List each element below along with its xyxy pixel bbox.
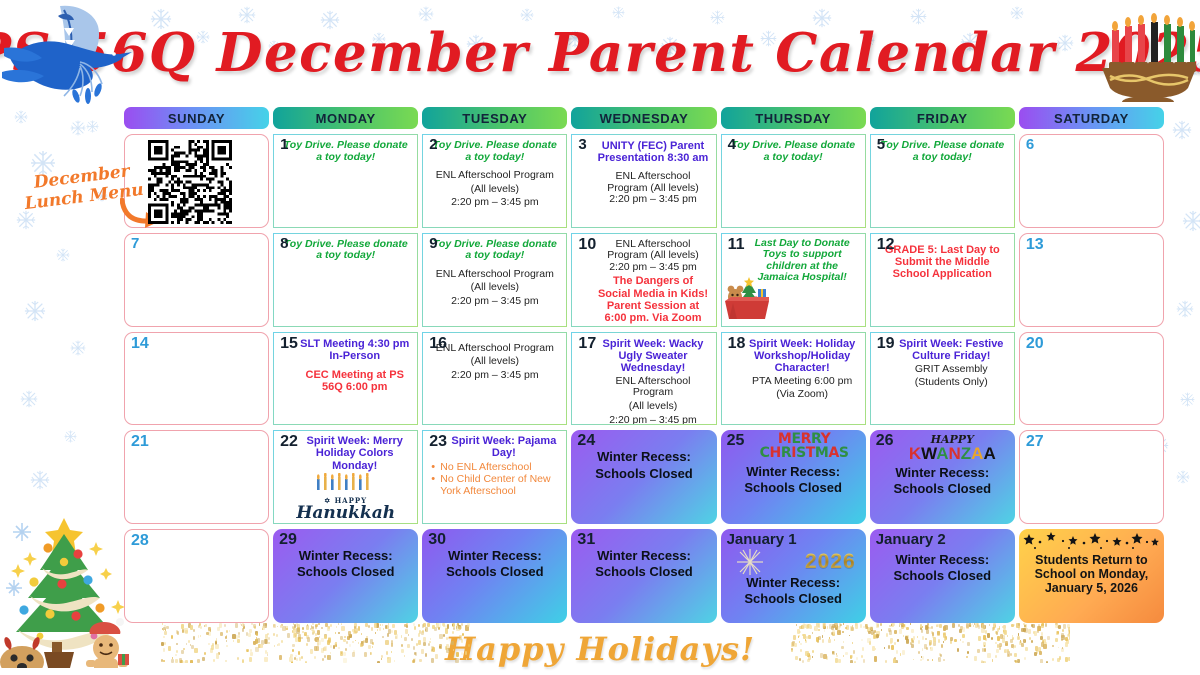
lunch-menu-qr-code[interactable] bbox=[148, 140, 232, 224]
snowflake-icon bbox=[56, 248, 70, 262]
event-text: Winter Recess: bbox=[876, 466, 1009, 480]
confetti-dot bbox=[330, 652, 331, 654]
confetti-dot bbox=[962, 641, 963, 643]
confetti-dot bbox=[229, 630, 230, 632]
calendar-cell-14[interactable]: 14 bbox=[124, 332, 269, 426]
day-number: 19 bbox=[877, 335, 895, 353]
confetti-dot bbox=[1065, 637, 1068, 642]
day-number: 9 bbox=[429, 236, 437, 253]
calendar-cell-6[interactable]: 6 bbox=[1019, 134, 1164, 228]
confetti-dot bbox=[314, 656, 316, 659]
calendar-cell-31[interactable]: 31Winter Recess:Schools Closed bbox=[571, 529, 716, 623]
calendar-cell-25[interactable]: 25MERRYCHRISTMASWinter Recess:Schools Cl… bbox=[721, 430, 866, 524]
calendar-cell-16[interactable]: 16ENL Afterschool Program(All levels)2:2… bbox=[422, 332, 567, 426]
event-text: Winter Recess: bbox=[577, 549, 710, 563]
confetti-dot bbox=[795, 656, 798, 661]
confetti-dot bbox=[1057, 631, 1059, 634]
confetti-dot bbox=[832, 651, 834, 654]
confetti-dot bbox=[346, 641, 348, 644]
calendar-cell-8[interactable]: 8Toy Drive. Please donate a toy today! bbox=[273, 233, 418, 327]
calendar-cell-13[interactable]: 13 bbox=[1019, 233, 1164, 327]
event-text: Schools Closed bbox=[577, 467, 710, 481]
confetti-dot bbox=[447, 624, 450, 628]
calendar-cell-2[interactable]: 2Toy Drive. Please donate a toy today!EN… bbox=[422, 134, 567, 228]
calendar-cell-1[interactable]: 1Toy Drive. Please donate a toy today! bbox=[273, 134, 418, 228]
confetti-dot bbox=[243, 624, 245, 628]
confetti-dot bbox=[993, 623, 997, 628]
confetti-dot bbox=[193, 636, 195, 640]
confetti-dot bbox=[1017, 659, 1019, 661]
confetti-dot bbox=[238, 635, 240, 638]
cell-body: Spirit Week: Wacky Ugly Sweater Wednesda… bbox=[576, 338, 711, 426]
confetti-dot bbox=[361, 641, 365, 646]
event-text: ENL Afterschool Program bbox=[596, 376, 709, 399]
confetti-dot bbox=[287, 626, 289, 628]
event-text: GRADE 5: Last Day to Submit the Middle S… bbox=[877, 244, 1008, 280]
day-number: 17 bbox=[578, 335, 596, 353]
confetti-dot bbox=[176, 650, 178, 653]
confetti-dot bbox=[419, 659, 422, 663]
calendar-grid: SUNDAYMONDAYTUESDAYWEDNESDAYTHURSDAYFRID… bbox=[124, 107, 1164, 623]
confetti-dot bbox=[891, 624, 892, 626]
confetti-dot bbox=[247, 650, 249, 652]
calendar-cell-7[interactable]: 7 bbox=[124, 233, 269, 327]
confetti-dot bbox=[996, 649, 998, 653]
confetti-dot bbox=[232, 634, 236, 639]
confetti-dot bbox=[268, 642, 269, 644]
list-item: No Child Center of New York Afterschool bbox=[431, 474, 562, 498]
confetti-dot bbox=[1058, 625, 1061, 629]
confetti-dot bbox=[297, 624, 301, 629]
day-number: 3 bbox=[578, 137, 586, 154]
snowflake-icon bbox=[1180, 392, 1195, 407]
confetti-dot bbox=[225, 636, 227, 639]
confetti-dot bbox=[802, 634, 804, 637]
confetti-dot bbox=[1058, 647, 1059, 649]
cell-body: GRADE 5: Last Day to Submit the Middle S… bbox=[875, 239, 1010, 280]
new-year-art: 2026 bbox=[725, 549, 862, 575]
confetti-dot bbox=[1035, 646, 1038, 651]
calendar-cell-11[interactable]: 11Last Day to Donate Toys to support chi… bbox=[721, 233, 866, 327]
confetti-dot bbox=[467, 623, 470, 627]
confetti-dot bbox=[341, 626, 345, 631]
event-text: Winter Recess: bbox=[577, 450, 710, 464]
confetti-dot bbox=[327, 655, 329, 659]
confetti-dot bbox=[319, 636, 320, 638]
confetti-dot bbox=[205, 624, 207, 627]
confetti-dot bbox=[860, 624, 863, 628]
confetti-dot bbox=[401, 649, 404, 653]
confetti-dot bbox=[950, 637, 953, 641]
confetti-dot bbox=[224, 624, 227, 628]
confetti-dot bbox=[1010, 653, 1012, 656]
cell-body: Winter Recess:Schools Closed bbox=[575, 549, 712, 580]
confetti-dot bbox=[273, 624, 276, 629]
confetti-dot bbox=[941, 644, 944, 648]
confetti-dot bbox=[225, 660, 227, 662]
confetti-dot bbox=[1014, 645, 1016, 648]
calendar-cell-27[interactable]: 27 bbox=[1019, 430, 1164, 524]
confetti-dot bbox=[897, 639, 899, 642]
calendar-cell-24[interactable]: 24Winter Recess:Schools Closed bbox=[571, 430, 716, 524]
confetti-dot bbox=[296, 658, 298, 661]
confetti-dot bbox=[1061, 635, 1065, 640]
confetti-dot bbox=[312, 623, 314, 625]
confetti-dot bbox=[406, 623, 408, 626]
confetti-dot bbox=[1057, 658, 1060, 662]
confetti-dot bbox=[453, 649, 454, 651]
confetti-dot bbox=[179, 658, 182, 663]
calendar-cell-5[interactable]: 5Toy Drive. Please donate a toy today! bbox=[870, 134, 1015, 228]
confetti-dot bbox=[185, 660, 188, 663]
confetti-dot bbox=[163, 648, 166, 652]
confetti-dot bbox=[917, 636, 918, 638]
confetti-dot bbox=[799, 658, 801, 661]
confetti-dot bbox=[894, 642, 896, 645]
confetti-dot bbox=[452, 631, 454, 634]
confetti-dot bbox=[391, 643, 394, 647]
confetti-dot bbox=[265, 639, 268, 644]
confetti-dot bbox=[171, 635, 174, 639]
confetti-dot bbox=[338, 632, 340, 635]
confetti-dot bbox=[932, 659, 934, 661]
confetti-dot bbox=[861, 639, 863, 642]
confetti-dot bbox=[381, 658, 382, 660]
event-text: 2:20 pm – 3:45 pm bbox=[596, 415, 709, 426]
confetti-dot bbox=[327, 626, 330, 631]
confetti-dot bbox=[843, 623, 844, 625]
confetti-dot bbox=[854, 661, 856, 663]
event-text: Spirit Week: Merry Holiday Colors Monday… bbox=[298, 435, 411, 471]
day-number: 26 bbox=[876, 432, 894, 450]
event-text: SLT Meeting 4:30 pm In-Person bbox=[298, 338, 411, 362]
confetti-dot bbox=[799, 631, 801, 633]
calendar-cell-12[interactable]: 12GRADE 5: Last Day to Submit the Middle… bbox=[870, 233, 1015, 327]
confetti-dot bbox=[166, 626, 168, 629]
confetti-dot bbox=[453, 655, 454, 657]
confetti-dot bbox=[1052, 645, 1053, 647]
confetti-dot bbox=[395, 634, 398, 639]
confetti-dot bbox=[278, 643, 280, 646]
confetti-dot bbox=[348, 631, 351, 636]
cell-body: Winter Recess:Schools Closed bbox=[874, 466, 1011, 497]
confetti-dot bbox=[926, 647, 928, 650]
event-text: Spirit Week: Holiday Workshop/Holiday Ch… bbox=[746, 338, 859, 374]
confetti-dot bbox=[802, 624, 805, 629]
snowflake-icon bbox=[30, 470, 50, 490]
confetti-dot bbox=[257, 638, 261, 643]
event-text: ENL Afterschool Program (All levels) 2:2… bbox=[596, 239, 709, 274]
confetti-dot bbox=[891, 645, 895, 650]
confetti-dot bbox=[292, 644, 294, 647]
event-text: Toy Drive. Please donate a toy today! bbox=[280, 140, 411, 163]
snowflake-icon bbox=[1176, 470, 1190, 484]
event-text: Schools Closed bbox=[279, 565, 412, 579]
confetti-dot bbox=[1021, 643, 1024, 648]
confetti-dot bbox=[428, 643, 430, 645]
confetti-dot bbox=[338, 623, 339, 625]
calendar-cell-3[interactable]: 3UNITY (FEC) Parent Presentation 8:30 am… bbox=[571, 134, 716, 228]
confetti-dot bbox=[162, 628, 163, 630]
confetti-dot bbox=[1013, 648, 1014, 650]
calendar-cell-january-2[interactable]: January 2Winter Recess:Schools Closed bbox=[870, 529, 1015, 623]
event-text: Schools Closed bbox=[428, 565, 561, 579]
confetti-dot bbox=[851, 655, 853, 658]
cell-body: Winter Recess:Schools Closed bbox=[725, 576, 862, 607]
confetti-dot bbox=[423, 637, 426, 642]
confetti-dot bbox=[794, 643, 797, 647]
cell-body: ENL Afterschool Program (All levels) 2:2… bbox=[576, 239, 711, 324]
confetti-dot bbox=[368, 625, 370, 628]
confetti-dot bbox=[435, 654, 438, 659]
confetti-dot bbox=[925, 638, 926, 640]
confetti-dot bbox=[922, 626, 923, 628]
confetti-dot bbox=[358, 626, 361, 630]
day-header-friday: FRIDAY bbox=[870, 107, 1015, 129]
confetti-dot bbox=[267, 652, 269, 654]
confetti-dot bbox=[443, 634, 445, 637]
day-number: 16 bbox=[429, 335, 447, 353]
confetti-dot bbox=[211, 645, 214, 650]
confetti-dot bbox=[216, 653, 220, 658]
confetti-dot bbox=[456, 652, 459, 657]
confetti-dot bbox=[903, 635, 905, 637]
event-text: 2:20 pm – 3:45 pm bbox=[429, 370, 560, 382]
cell-body: Toy Drive. Please donate a toy today! bbox=[875, 140, 1010, 163]
confetti-dot bbox=[408, 634, 409, 636]
confetti-dot bbox=[1024, 657, 1026, 660]
confetti-dot bbox=[306, 643, 308, 646]
confetti-dot bbox=[371, 627, 373, 631]
confetti-dot bbox=[1069, 630, 1070, 634]
confetti-dot bbox=[834, 639, 835, 641]
confetti-dot bbox=[861, 655, 863, 658]
confetti-dot bbox=[317, 640, 321, 645]
confetti-dot bbox=[799, 641, 800, 643]
confetti-dot bbox=[1037, 626, 1040, 631]
hanukkah-happy: ✡ HAPPY bbox=[324, 496, 367, 505]
snowflake-icon bbox=[1176, 300, 1194, 318]
confetti-dot bbox=[853, 650, 856, 654]
confetti-dot bbox=[943, 633, 945, 635]
confetti-dot bbox=[213, 659, 215, 662]
event-text: (All levels) bbox=[429, 184, 560, 196]
event-text: Students Return to School on Monday, Jan… bbox=[1025, 554, 1158, 595]
calendar-cell-30[interactable]: 30Winter Recess:Schools Closed bbox=[422, 529, 567, 623]
confetti-dot bbox=[370, 639, 373, 644]
confetti-dot bbox=[938, 657, 941, 662]
confetti-dot bbox=[460, 626, 462, 629]
confetti-dot bbox=[823, 623, 826, 628]
calendar-cell-26[interactable]: 26HAPPYKWANZAAWinter Recess:Schools Clos… bbox=[870, 430, 1015, 524]
calendar-cell-29[interactable]: 29Winter Recess:Schools Closed bbox=[273, 529, 418, 623]
confetti-dot bbox=[466, 658, 468, 660]
confetti-dot bbox=[422, 630, 424, 634]
confetti-dot bbox=[855, 623, 858, 628]
confetti-dot bbox=[874, 656, 877, 661]
confetti-dot bbox=[365, 638, 368, 643]
confetti-dot bbox=[1028, 629, 1031, 633]
day-number: 6 bbox=[1026, 137, 1034, 154]
calendar-cell-23[interactable]: 23Spirit Week: Pajama Day!No ENL Aftersc… bbox=[422, 430, 567, 524]
confetti-dot bbox=[381, 655, 383, 658]
calendar-cell-18[interactable]: 18Spirit Week: Holiday Workshop/Holiday … bbox=[721, 332, 866, 426]
day-label: January 1 bbox=[727, 531, 797, 548]
confetti-dot bbox=[379, 627, 381, 630]
confetti-dot bbox=[374, 623, 378, 628]
confetti-dot bbox=[884, 647, 885, 649]
confetti-dot bbox=[465, 651, 467, 655]
day-number: 23 bbox=[429, 433, 447, 451]
cell-body: Students Return to School on Monday, Jan… bbox=[1023, 554, 1160, 595]
confetti-dot bbox=[987, 653, 991, 658]
event-text: Schools Closed bbox=[876, 482, 1009, 496]
confetti-dot bbox=[800, 643, 801, 645]
day-number: 31 bbox=[577, 531, 595, 549]
day-number: 1 bbox=[280, 137, 288, 154]
confetti-dot bbox=[190, 660, 193, 664]
confetti-dot bbox=[981, 660, 983, 663]
confetti-dot bbox=[886, 633, 889, 637]
confetti-dot bbox=[974, 623, 975, 625]
confetti-dot bbox=[462, 633, 464, 637]
confetti-dot bbox=[1011, 624, 1013, 628]
confetti-dot bbox=[939, 624, 942, 628]
day-number: 13 bbox=[1026, 236, 1044, 254]
confetti-dot bbox=[1014, 660, 1015, 662]
confetti-dot bbox=[248, 633, 251, 637]
snowflake-icon bbox=[1172, 120, 1192, 140]
confetti-dot bbox=[210, 629, 212, 632]
confetti-dot bbox=[242, 628, 244, 632]
confetti-dot bbox=[927, 659, 928, 661]
confetti-dot bbox=[164, 631, 167, 635]
confetti-dot bbox=[324, 646, 327, 651]
confetti-dot bbox=[423, 642, 426, 646]
confetti-dot bbox=[974, 656, 977, 661]
event-text: Spirit Week: Festive Culture Friday! bbox=[895, 338, 1008, 362]
confetti-dot bbox=[967, 642, 970, 647]
confetti-dot bbox=[453, 627, 455, 630]
confetti-dot bbox=[874, 635, 876, 638]
confetti-dot bbox=[343, 652, 346, 657]
snowflake-icon bbox=[64, 430, 77, 443]
happy-holidays-text: Happy Holidays! bbox=[445, 630, 755, 668]
confetti-dot bbox=[828, 639, 831, 643]
calendar-cell-17[interactable]: 17Spirit Week: Wacky Ugly Sweater Wednes… bbox=[571, 332, 716, 426]
day-number: 8 bbox=[280, 236, 288, 253]
confetti-dot bbox=[913, 659, 914, 661]
confetti-dot bbox=[315, 633, 317, 636]
confetti-dot bbox=[868, 631, 870, 634]
confetti-dot bbox=[302, 627, 304, 630]
hanukkah-text: ✡ HAPPYHanukkah bbox=[278, 491, 413, 522]
confetti-dot bbox=[315, 625, 317, 628]
confetti-dot bbox=[233, 640, 235, 642]
confetti-dot bbox=[282, 626, 286, 631]
calendar-cell-10[interactable]: 10ENL Afterschool Program (All levels) 2… bbox=[571, 233, 716, 327]
confetti-dot bbox=[287, 633, 290, 638]
confetti-dot bbox=[292, 649, 294, 652]
confetti-dot bbox=[301, 656, 303, 659]
confetti-dot bbox=[235, 623, 238, 628]
calendar-cell-return-notice[interactable]: Students Return to School on Monday, Jan… bbox=[1019, 529, 1164, 623]
confetti-dot bbox=[411, 638, 413, 640]
confetti-dot bbox=[413, 646, 415, 649]
day-number: 25 bbox=[727, 432, 745, 450]
confetti-dot bbox=[918, 640, 921, 644]
confetti-dot bbox=[977, 649, 980, 653]
day-number: 11 bbox=[728, 236, 745, 254]
confetti-dot bbox=[377, 629, 378, 631]
cell-body: Toy Drive. Please donate a toy today! bbox=[726, 140, 861, 163]
confetti-dot bbox=[1021, 628, 1024, 632]
cell-body: Spirit Week: Festive Culture Friday!GRIT… bbox=[875, 338, 1010, 389]
confetti-dot bbox=[1014, 653, 1017, 657]
calendar-cell-15[interactable]: 15SLT Meeting 4:30 pm In-PersonCEC Meeti… bbox=[273, 332, 418, 426]
calendar-cell-9[interactable]: 9Toy Drive. Please donate a toy today!EN… bbox=[422, 233, 567, 327]
confetti-dot bbox=[202, 657, 205, 661]
confetti-left bbox=[160, 623, 470, 663]
confetti-dot bbox=[1068, 657, 1070, 661]
confetti-dot bbox=[418, 640, 421, 645]
confetti-dot bbox=[922, 636, 925, 640]
day-number: 27 bbox=[1026, 433, 1044, 451]
confetti-dot bbox=[432, 625, 435, 629]
confetti-dot bbox=[338, 647, 339, 649]
confetti-dot bbox=[831, 626, 834, 630]
confetti-dot bbox=[943, 641, 944, 643]
confetti-dot bbox=[930, 647, 933, 651]
day-number: 2 bbox=[429, 137, 437, 154]
confetti-dot bbox=[876, 623, 879, 628]
dove-bird-icon bbox=[2, 2, 134, 111]
confetti-dot bbox=[358, 642, 359, 644]
calendar-cell-4[interactable]: 4Toy Drive. Please donate a toy today! bbox=[721, 134, 866, 228]
cell-body: ENL Afterschool Program(All levels)2:20 … bbox=[427, 338, 562, 382]
confetti-dot bbox=[418, 624, 420, 627]
calendar-cell-20[interactable]: 20 bbox=[1019, 332, 1164, 426]
confetti-dot bbox=[305, 661, 307, 664]
confetti-dot bbox=[978, 636, 981, 641]
confetti-dot bbox=[328, 637, 332, 642]
event-text: (All levels) bbox=[429, 356, 560, 368]
cell-body: UNITY (FEC) Parent Presentation 8:30 amE… bbox=[576, 140, 711, 206]
day-number: 30 bbox=[428, 531, 446, 549]
confetti-dot bbox=[430, 638, 431, 640]
confetti-dot bbox=[977, 623, 979, 627]
confetti-dot bbox=[340, 636, 343, 640]
confetti-dot bbox=[841, 646, 843, 649]
confetti-dot bbox=[967, 651, 969, 654]
calendar-cell-january-1[interactable]: January 12026Winter Recess:Schools Close… bbox=[721, 529, 866, 623]
confetti-dot bbox=[414, 626, 416, 629]
confetti-dot bbox=[330, 645, 332, 648]
confetti-dot bbox=[377, 661, 380, 663]
confetti-dot bbox=[461, 639, 463, 643]
confetti-dot bbox=[899, 625, 900, 627]
confetti-dot bbox=[820, 653, 823, 658]
calendar-cell-21[interactable]: 21 bbox=[124, 430, 269, 524]
confetti-dot bbox=[294, 633, 297, 637]
confetti-dot bbox=[991, 637, 993, 640]
confetti-dot bbox=[382, 636, 384, 639]
confetti-dot bbox=[352, 652, 355, 657]
confetti-dot bbox=[175, 654, 177, 656]
calendar-cell-22[interactable]: 22Spirit Week: Merry Holiday Colors Mond… bbox=[273, 430, 418, 524]
calendar-cell-19[interactable]: 19Spirit Week: Festive Culture Friday!GR… bbox=[870, 332, 1015, 426]
confetti-dot bbox=[922, 656, 924, 659]
